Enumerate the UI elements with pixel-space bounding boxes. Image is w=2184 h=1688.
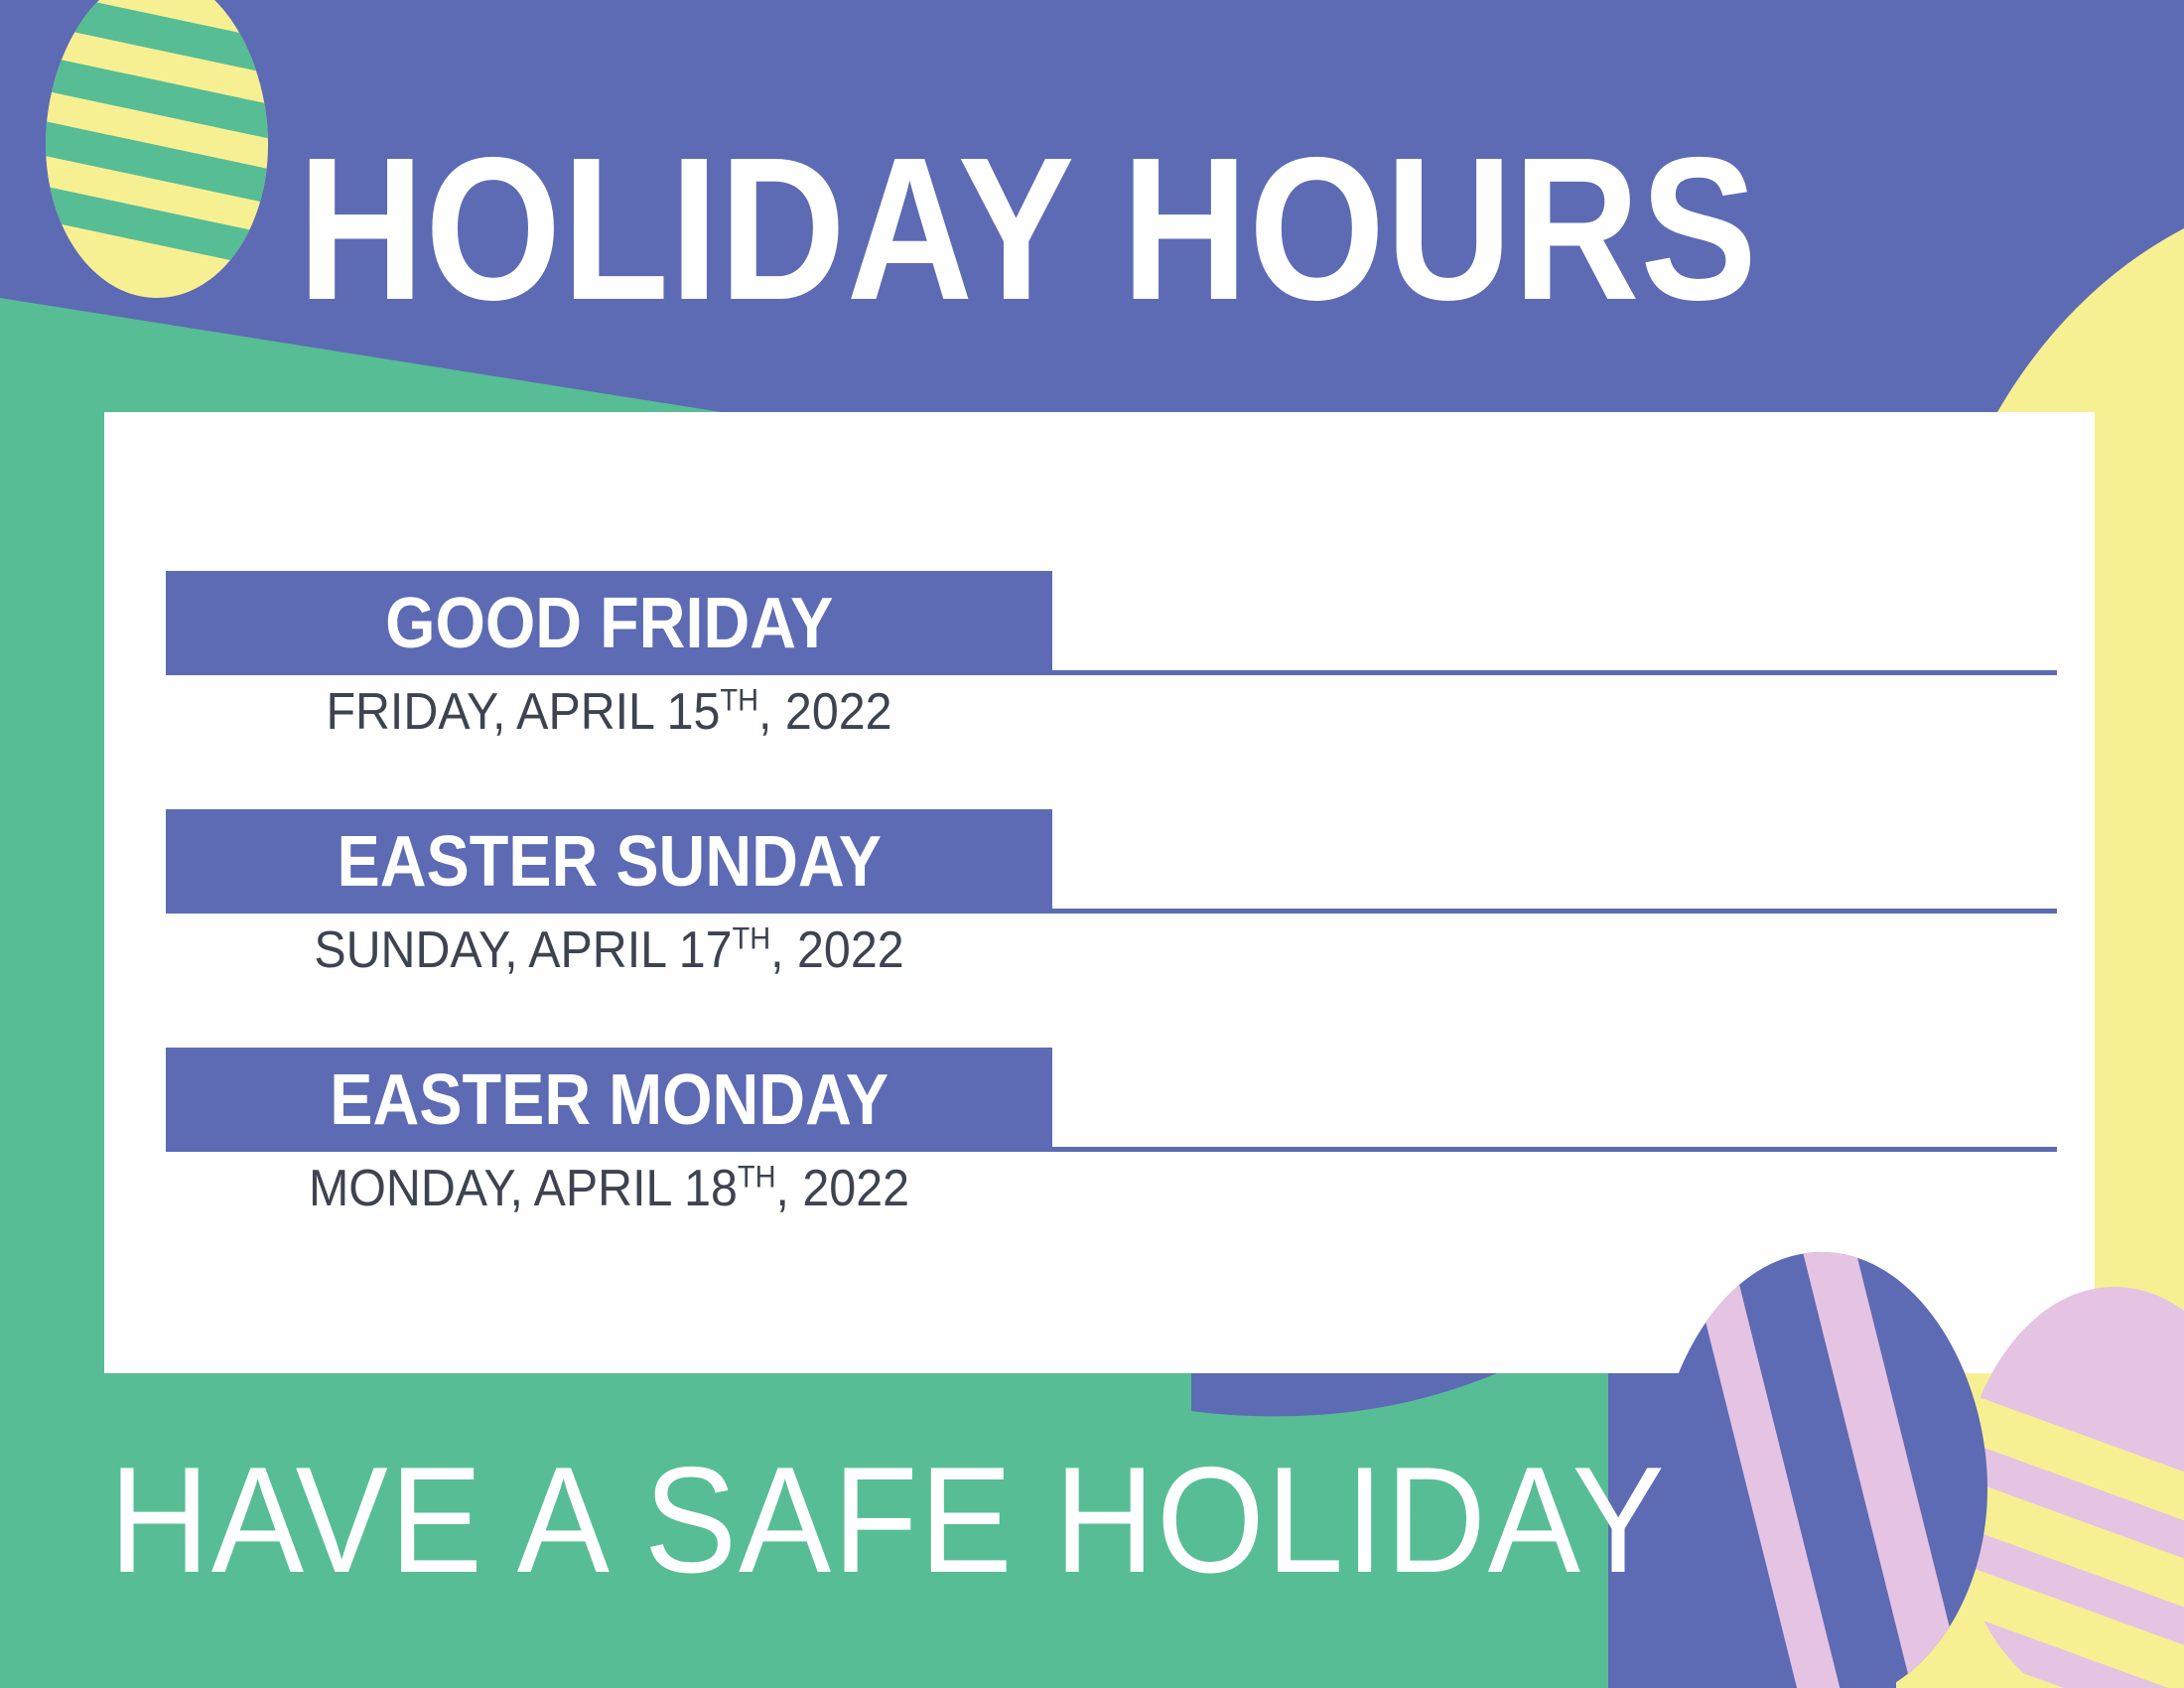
- holiday-name-bar: EASTER SUNDAY: [166, 809, 1052, 914]
- holiday-date-suffix: , 2022: [758, 683, 891, 741]
- footer-message: HAVE A SAFE HOLIDAY: [109, 1445, 1667, 1596]
- holiday-date-ordinal: TH: [720, 683, 758, 718]
- hours-write-in-rule: [1052, 670, 2057, 675]
- striped-egg-icon-bottom-center: [1608, 1246, 2035, 1688]
- holiday-date-ordinal: TH: [732, 921, 770, 956]
- holiday-name-bar: GOOD FRIDAY: [166, 571, 1052, 675]
- holiday-date-ordinal: TH: [738, 1160, 776, 1195]
- holiday-date-label: MONDAY, APRIL 18TH, 2022: [197, 1159, 1021, 1218]
- poster-canvas: GOOD FRIDAY FRIDAY, APRIL 15TH, 2022 EAS…: [0, 0, 2184, 1688]
- striped-egg-icon-top-left: [18, 0, 296, 308]
- holiday-name-label: EASTER MONDAY: [330, 1064, 888, 1136]
- holiday-name-bar: EASTER MONDAY: [166, 1048, 1052, 1152]
- holiday-date-prefix: SUNDAY, APRIL 17: [314, 921, 732, 979]
- holiday-name-label: GOOD FRIDAY: [385, 588, 833, 659]
- holiday-date-suffix: , 2022: [776, 1160, 909, 1217]
- holiday-date-label: SUNDAY, APRIL 17TH, 2022: [197, 920, 1021, 980]
- hours-write-in-rule: [1052, 1147, 2057, 1152]
- holiday-date-prefix: FRIDAY, APRIL 15: [326, 683, 720, 741]
- holiday-date-suffix: , 2022: [770, 921, 903, 979]
- holiday-name-label: EASTER SUNDAY: [337, 826, 882, 898]
- holiday-date-prefix: MONDAY, APRIL 18: [309, 1160, 738, 1217]
- hours-card: GOOD FRIDAY FRIDAY, APRIL 15TH, 2022 EAS…: [104, 412, 2095, 1373]
- holiday-date-label: FRIDAY, APRIL 15TH, 2022: [197, 682, 1021, 742]
- page-title: HOLIDAY HOURS: [298, 127, 1749, 336]
- hours-write-in-rule: [1052, 909, 2057, 914]
